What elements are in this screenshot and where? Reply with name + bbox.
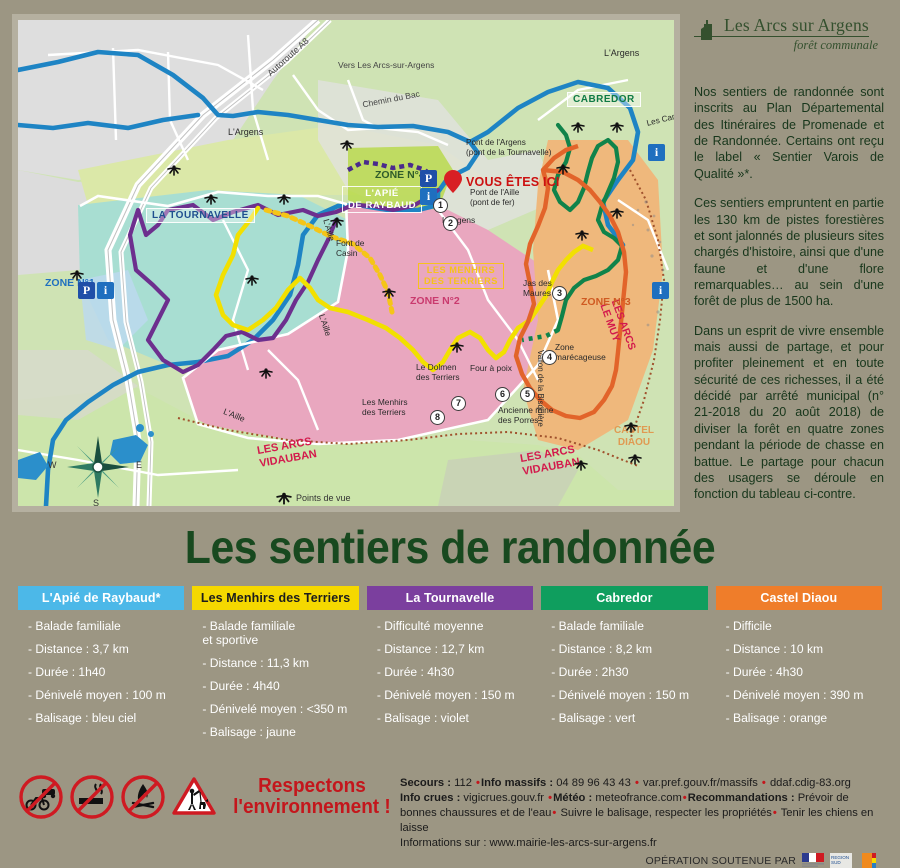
list-item: Distance : 10 km (726, 643, 874, 657)
viewpoint-icon (340, 138, 354, 152)
trail-card-apie-de-raybaud[interactable]: L'Apié de Raybaud* Balade familiale Dist… (18, 586, 184, 760)
viewpoint-icon (245, 273, 259, 287)
map-canvas[interactable]: Autoroute A8 Vers Les Arcs-sur-Argens Ch… (18, 20, 674, 506)
svg-text:SUD: SUD (831, 860, 841, 865)
viewpoint-icon (575, 228, 589, 242)
value-info-massifs: 04 89 96 43 43 (553, 777, 634, 789)
viewpoint-icon (450, 340, 464, 354)
poster-root: Autoroute A8 Vers Les Arcs-sur-Argens Ch… (0, 0, 900, 840)
trail-cards: L'Apié de Raybaud* Balade familiale Dist… (0, 574, 900, 760)
list-item: Distance : 8,2 km (551, 643, 699, 657)
footer-info: Secours : 112 •Info massifs : 04 89 96 4… (400, 774, 884, 868)
page-title: Les sentiers de randonnée (32, 520, 869, 574)
list-item: Distance : 12,7 km (377, 643, 525, 657)
list-item: Balisage : violet (377, 712, 525, 726)
value-recommandations: Prévoir de (795, 792, 849, 804)
viewpoint-icon (167, 163, 181, 177)
departement-var-logo-icon (858, 853, 880, 868)
respect-line-1: Respectons (233, 776, 391, 797)
trail-card-title: Cabredor (541, 586, 707, 610)
list-item: Difficulté moyenne (377, 620, 525, 634)
viewpoint-icon (556, 162, 570, 176)
list-item: Balade familiale et sportive (202, 620, 350, 648)
viewpoint-icon (330, 215, 344, 229)
you-are-here-label: VOUS ÊTES ICI (466, 175, 560, 189)
list-item: Durée : 2h30 (551, 666, 699, 680)
info-line-2: Info crues : vigicrues.gouv.fr •Météo : … (400, 791, 884, 806)
label-info-massifs: Info massifs : (481, 777, 553, 789)
intro-paragraph-1: Nos sentiers de randonnée sont inscrits … (694, 84, 884, 182)
link-vigicrues[interactable]: vigicrues.gouv.fr (460, 792, 547, 804)
castle-tower-icon (696, 16, 722, 42)
list-item: Durée : 4h30 (377, 666, 525, 680)
trail-map[interactable]: Autoroute A8 Vers Les Arcs-sur-Argens Ch… (12, 14, 680, 512)
viewpoint-legend-icon (276, 490, 292, 506)
waypoint-6[interactable]: 6 (495, 387, 510, 402)
dogs-on-leash-warning-icon (171, 774, 217, 820)
waypoint-7[interactable]: 7 (451, 396, 466, 411)
label-meteo: Météo : (553, 792, 592, 804)
waypoint-1[interactable]: 1 (433, 198, 448, 213)
list-item: Balisage : orange (726, 712, 874, 726)
viewpoint-icon (610, 206, 624, 220)
viewpoint-icon (624, 420, 638, 434)
footer-left: Respectons l'environnement ! (18, 774, 400, 820)
viewpoint-icon (70, 268, 84, 282)
list-item: Difficile (726, 620, 874, 634)
viewpoint-icon (259, 366, 273, 380)
viewpoint-icon (277, 192, 291, 206)
trail-card-title: La Tournavelle (367, 586, 533, 610)
operation-supported-row: OPÉRATION SOUTENUE PAR REGION SUD (400, 853, 884, 868)
list-item: Distance : 11,3 km (202, 657, 350, 671)
info-line-4[interactable]: Informations sur : www.mairie-les-arcs-s… (400, 836, 884, 851)
value-secours: 112 (451, 777, 475, 789)
intro-paragraph-2: Ces sentiers empruntent en partie les 13… (694, 195, 884, 310)
parking-icon[interactable]: P (420, 170, 437, 187)
footer: Respectons l'environnement ! Secours : 1… (0, 760, 900, 868)
waypoint-4[interactable]: 4 (542, 350, 557, 365)
compass-rose-icon (63, 432, 133, 502)
list-item: Durée : 1h40 (28, 666, 176, 680)
trail-card-details: Difficulté moyenne Distance : 12,7 km Du… (367, 610, 533, 747)
label-recommandations: Recommandations : (688, 792, 795, 804)
waypoint-3[interactable]: 3 (552, 286, 567, 301)
region-sud-logo-icon: REGION SUD (830, 853, 852, 868)
top-section: Autoroute A8 Vers Les Arcs-sur-Argens Ch… (0, 0, 900, 512)
respect-line-2: l'environnement ! (233, 797, 391, 818)
list-item: Balisage : vert (551, 712, 699, 726)
location-pin-icon (442, 170, 464, 194)
list-item: Balisage : bleu ciel (28, 712, 176, 726)
trail-card-menhirs-des-terriers[interactable]: Les Menhirs des Terriers Balade familial… (192, 586, 358, 760)
list-item: Durée : 4h30 (726, 666, 874, 680)
list-item: Dénivelé moyen : 150 m (377, 689, 525, 703)
no-vehicles-icon (18, 774, 64, 820)
link-meteofrance[interactable]: meteofrance.com (592, 792, 682, 804)
viewpoint-icon (204, 192, 218, 206)
commune-tagline: forêt communale (694, 38, 884, 53)
picto-row (18, 774, 217, 820)
viewpoint-icon (574, 458, 588, 472)
operation-label: OPÉRATION SOUTENUE PAR (646, 855, 796, 867)
waypoint-5[interactable]: 5 (520, 387, 535, 402)
french-republic-logo-icon (802, 853, 824, 868)
waypoint-8[interactable]: 8 (430, 410, 445, 425)
info-icon-3[interactable]: i (652, 282, 669, 299)
link-var-pref[interactable]: var.pref.gouv.fr/massifs (640, 777, 761, 789)
info-icon-2[interactable]: i (97, 282, 114, 299)
trail-card-castel-diaou[interactable]: Castel Diaou Difficile Distance : 10 km … (716, 586, 882, 760)
trail-card-cabredor[interactable]: Cabredor Balade familiale Distance : 8,2… (541, 586, 707, 760)
trail-card-title: Les Menhirs des Terriers (192, 586, 358, 610)
commune-logo: Les Arcs sur Argens forêt communale (694, 16, 884, 74)
trail-card-details: Balade familiale Distance : 8,2 km Durée… (541, 610, 707, 747)
parking-icon-2[interactable]: P (78, 282, 95, 299)
list-item: Dénivelé moyen : 150 m (551, 689, 699, 703)
label-secours: Secours : (400, 777, 451, 789)
list-item: Distance : 3,7 km (28, 643, 176, 657)
reco-1: bonnes chaussures et de l'eau (400, 807, 551, 819)
list-item: Durée : 4h40 (202, 680, 350, 694)
list-item: Balade familiale (551, 620, 699, 634)
trail-card-la-tournavelle[interactable]: La Tournavelle Difficulté moyenne Distan… (367, 586, 533, 760)
trail-card-details: Difficile Distance : 10 km Durée : 4h30 … (716, 610, 882, 747)
list-item: Dénivelé moyen : <350 m (202, 703, 350, 717)
info-icon-4[interactable]: i (648, 144, 665, 161)
viewpoint-icon (628, 452, 642, 466)
trail-card-details: Balade familiale Distance : 3,7 km Durée… (18, 610, 184, 747)
viewpoint-icon (382, 286, 396, 300)
reco-2: Suivre le balisage, respecter les propri… (557, 807, 772, 819)
no-fire-icon (120, 774, 166, 820)
info-line-1: Secours : 112 •Info massifs : 04 89 96 4… (400, 776, 884, 791)
info-line-3: bonnes chaussures et de l'eau• Suivre le… (400, 806, 884, 836)
list-item: Dénivelé moyen : 390 m (726, 689, 874, 703)
no-smoking-icon (69, 774, 115, 820)
label-info-crues: Info crues : (400, 792, 460, 804)
list-item: Balisage : jaune (202, 726, 350, 740)
trail-card-title: Castel Diaou (716, 586, 882, 610)
trail-card-title: L'Apié de Raybaud* (18, 586, 184, 610)
viewpoint-icon (571, 120, 585, 134)
side-text-column: Les Arcs sur Argens forêt communale Nos … (680, 14, 888, 512)
list-item: Balade familiale (28, 620, 176, 634)
link-ddaf-cdig[interactable]: ddaf.cdig-83.org (767, 777, 851, 789)
intro-paragraph-3: Dans un esprit de vivre ensemble mais au… (694, 323, 884, 503)
respect-environment-slogan: Respectons l'environnement ! (233, 776, 391, 818)
list-item: Dénivelé moyen : 100 m (28, 689, 176, 703)
viewpoint-icon (610, 120, 624, 134)
trail-card-details: Balade familiale et sportive Distance : … (192, 610, 358, 760)
waypoint-2[interactable]: 2 (443, 216, 458, 231)
